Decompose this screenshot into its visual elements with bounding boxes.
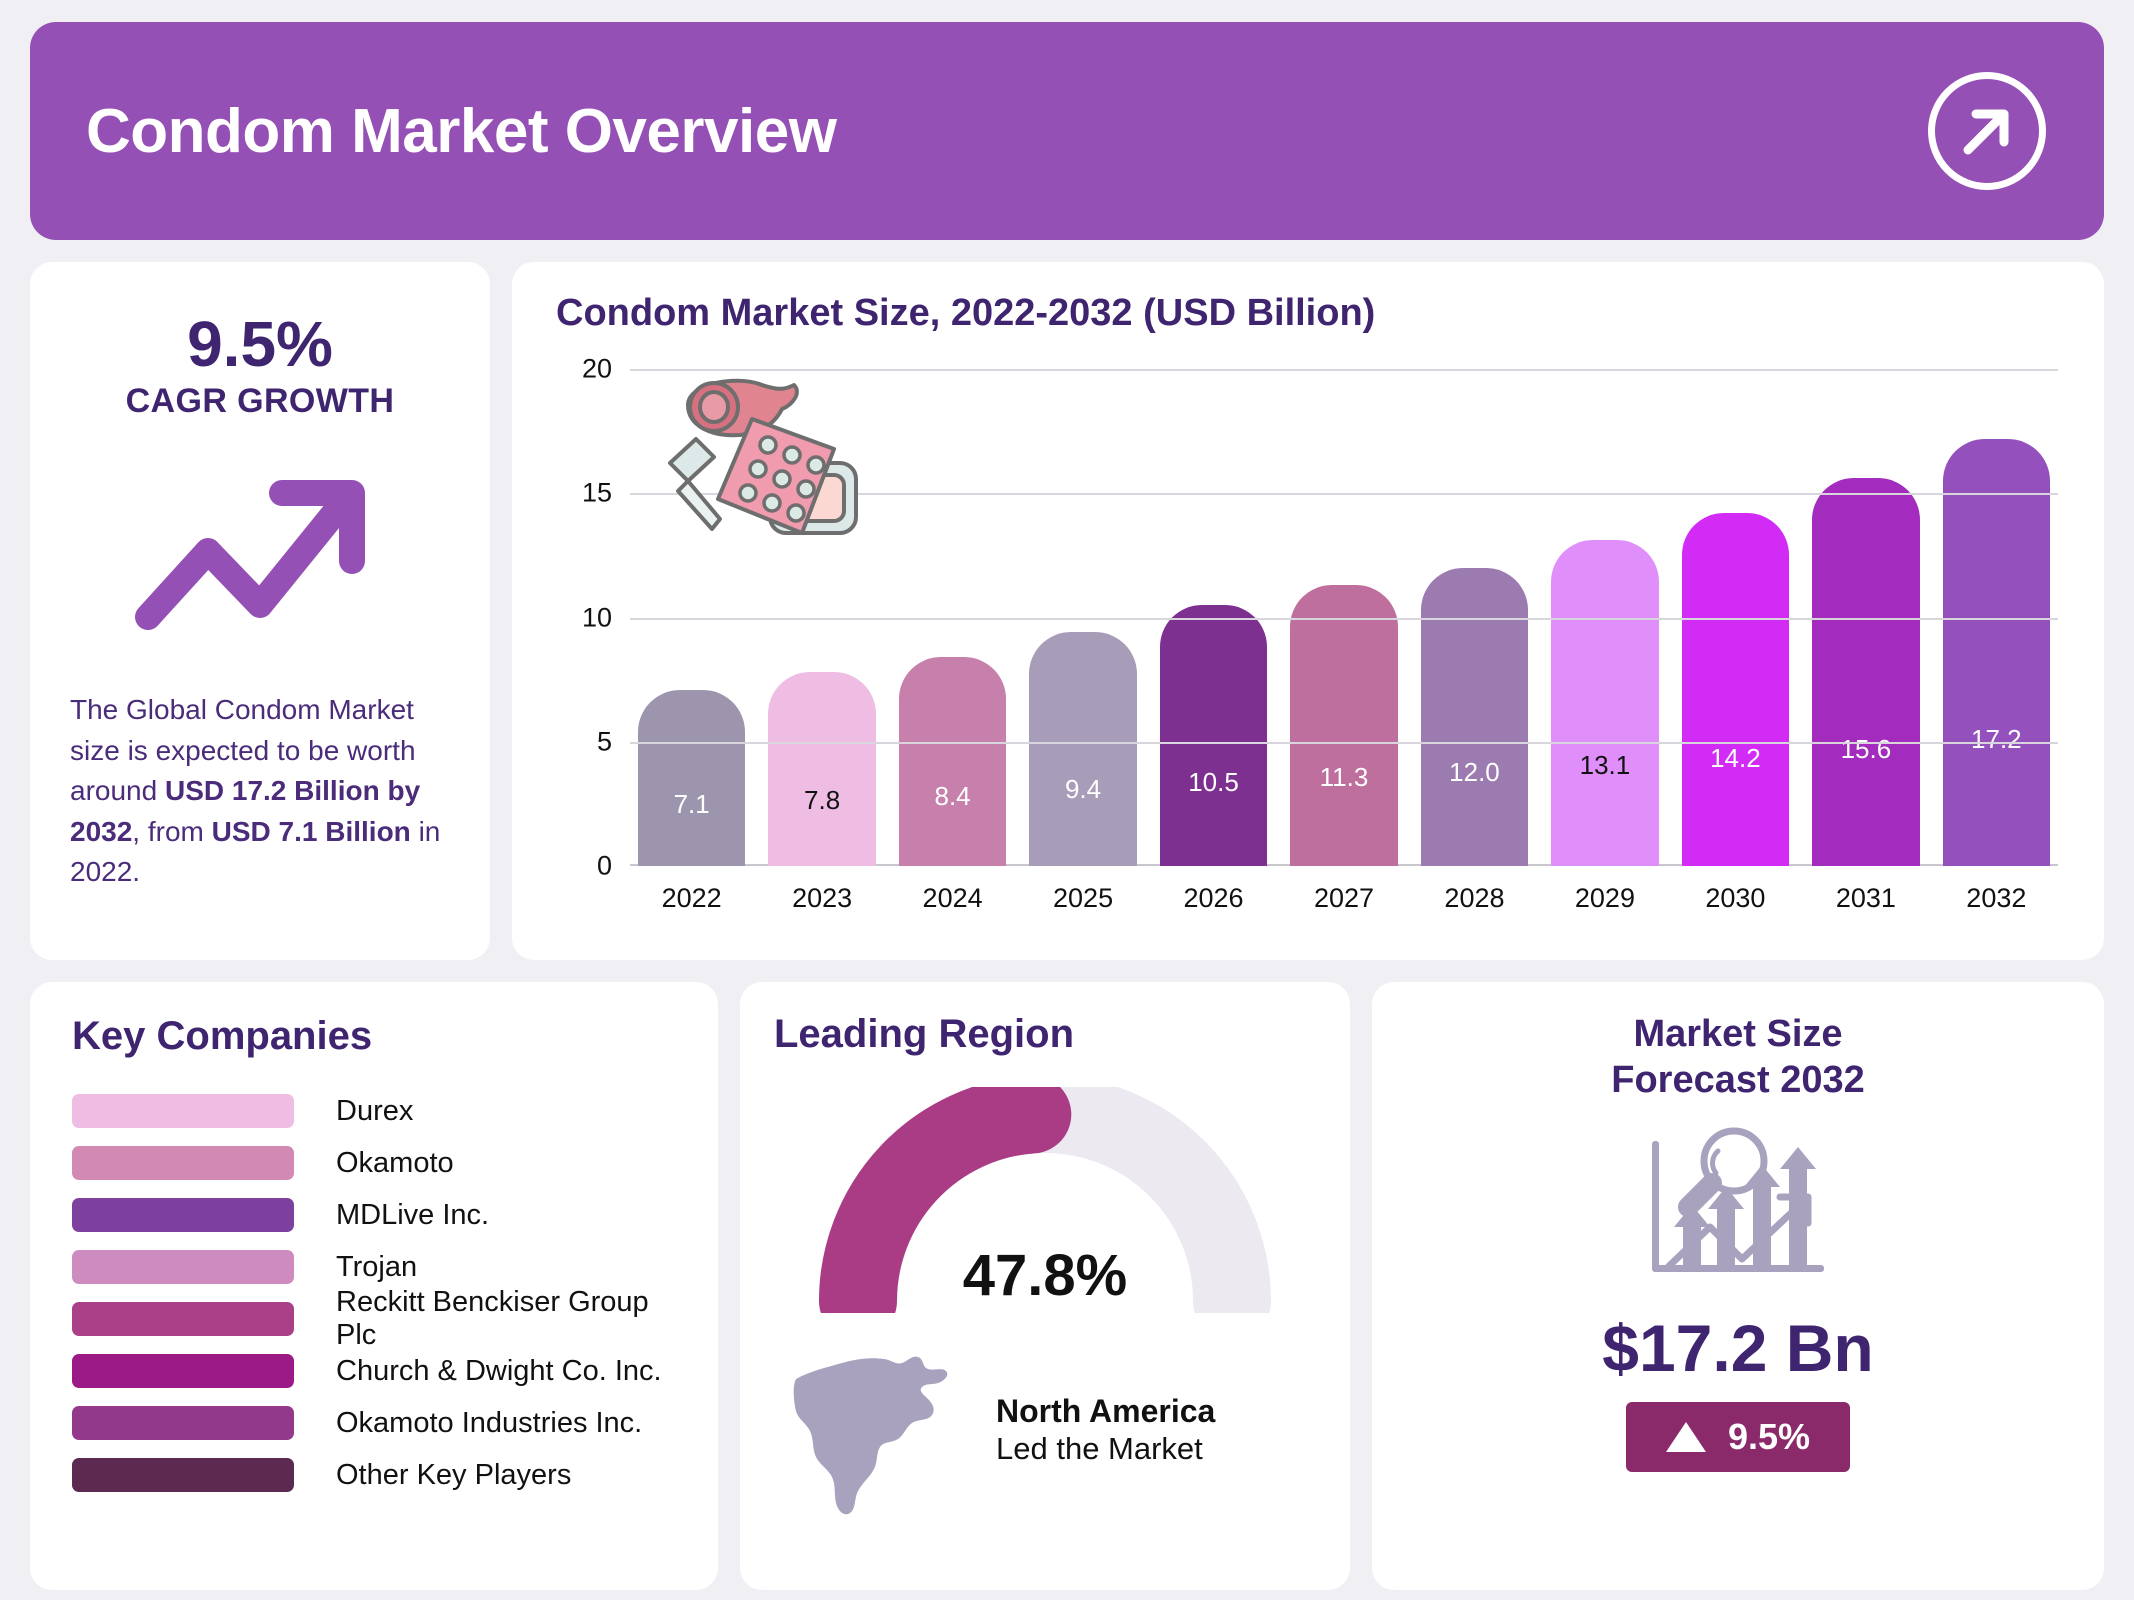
chart-x-tick: 2027 <box>1290 883 1397 914</box>
region-gauge: 47.8% <box>810 1087 1280 1313</box>
chart-bar-value: 17.2 <box>1943 724 2050 755</box>
region-percent: 47.8% <box>810 1242 1280 1309</box>
chart-bar-value: 9.4 <box>1029 774 1136 805</box>
chart-y-tick: 10 <box>582 602 612 633</box>
region-text-block: North America Led the Market <box>996 1393 1215 1467</box>
cagr-value: 9.5% <box>187 312 333 376</box>
chart-x-tick: 2031 <box>1812 883 1919 914</box>
chart-x-tick: 2026 <box>1160 883 1267 914</box>
desc-part-3: , from <box>132 816 211 847</box>
company-list: DurexOkamotoMDLive Inc.TrojanReckitt Ben… <box>72 1085 682 1501</box>
growth-arrow-icon <box>130 465 390 640</box>
company-name: Okamoto <box>336 1147 454 1180</box>
chart-x-tick: 2024 <box>899 883 1006 914</box>
region-name: North America <box>996 1393 1215 1431</box>
north-america-map-icon <box>784 1335 970 1526</box>
chart-bar[interactable]: 14.2 <box>1682 513 1789 866</box>
chart-bar[interactable]: 10.5 <box>1160 605 1267 866</box>
chart-bar-value: 7.1 <box>638 789 745 820</box>
chart-bar-value: 11.3 <box>1290 762 1397 793</box>
market-size-chart-card: Condom Market Size, 2022-2032 (USD Billi… <box>512 262 2104 960</box>
company-row[interactable]: Durex <box>72 1085 682 1137</box>
row-bottom: Key Companies DurexOkamotoMDLive Inc.Tro… <box>30 982 2104 1590</box>
company-name: Church & Dwight Co. Inc. <box>336 1355 662 1388</box>
company-color-swatch <box>72 1354 294 1388</box>
chart-y-tick: 5 <box>597 726 612 757</box>
chart-x-tick: 2032 <box>1943 883 2050 914</box>
chart-bar-value: 14.2 <box>1682 743 1789 774</box>
cagr-label: CAGR GROWTH <box>126 382 395 421</box>
region-summary: North America Led the Market <box>774 1335 1316 1526</box>
company-color-swatch <box>72 1146 294 1180</box>
chart-bar[interactable]: 11.3 <box>1290 585 1397 866</box>
company-row[interactable]: Reckitt Benckiser Group Plc <box>72 1293 682 1345</box>
company-name: Other Key Players <box>336 1459 571 1492</box>
chart-bar[interactable]: 7.8 <box>768 672 875 866</box>
chart-bar[interactable]: 9.4 <box>1029 632 1136 866</box>
chart-x-tick: 2023 <box>768 883 875 914</box>
chart-x-tick: 2029 <box>1551 883 1658 914</box>
company-row[interactable]: Other Key Players <box>72 1449 682 1501</box>
chart-x-tick: 2022 <box>638 883 745 914</box>
contraceptive-illustration-icon <box>652 371 867 551</box>
chart-bar-value: 15.6 <box>1812 734 1919 765</box>
company-name: Reckitt Benckiser Group Plc <box>336 1286 682 1352</box>
chart-x-labels: 2022202320242025202620272028202920302031… <box>630 883 2058 914</box>
infographic-page: Condom Market Overview 9.5% CAGR GROWTH <box>0 0 2134 1600</box>
key-companies-card: Key Companies DurexOkamotoMDLive Inc.Tro… <box>30 982 718 1590</box>
company-color-swatch <box>72 1458 294 1492</box>
company-name: Okamoto Industries Inc. <box>336 1407 642 1440</box>
chart-bar-value: 13.1 <box>1551 750 1658 781</box>
chart-bar[interactable]: 17.2 <box>1943 439 2050 866</box>
chart-gridline <box>630 742 2058 744</box>
chart-bar-value: 10.5 <box>1160 767 1267 798</box>
region-subtitle: Led the Market <box>996 1431 1215 1468</box>
company-row[interactable]: Okamoto <box>72 1137 682 1189</box>
company-row[interactable]: Church & Dwight Co. Inc. <box>72 1345 682 1397</box>
cagr-description: The Global Condom Market size is expecte… <box>64 690 456 893</box>
chart-title: Condom Market Size, 2022-2032 (USD Billi… <box>542 292 2068 335</box>
company-row[interactable]: MDLive Inc. <box>72 1189 682 1241</box>
chart-bar-value: 12.0 <box>1421 757 1528 788</box>
chart-bar[interactable]: 7.1 <box>638 690 745 866</box>
chart-bar[interactable]: 12.0 <box>1421 568 1528 866</box>
badge-value: 9.5% <box>1728 1416 1810 1458</box>
forecast-title-line2: Forecast 2032 <box>1611 1058 1865 1104</box>
chart-bar-value: 7.8 <box>768 785 875 816</box>
company-color-swatch <box>72 1406 294 1440</box>
company-color-swatch <box>72 1198 294 1232</box>
chart-y-tick: 0 <box>597 851 612 882</box>
company-color-swatch <box>72 1094 294 1128</box>
company-row[interactable]: Okamoto Industries Inc. <box>72 1397 682 1449</box>
chart-y-tick: 20 <box>582 354 612 385</box>
triangle-up-icon <box>1666 1422 1706 1452</box>
chart-bar[interactable]: 15.6 <box>1812 478 1919 866</box>
chart-y-tick: 15 <box>582 478 612 509</box>
company-name: MDLive Inc. <box>336 1199 489 1232</box>
forecast-title-line1: Market Size <box>1611 1012 1865 1058</box>
chart-bar[interactable]: 13.1 <box>1551 540 1658 866</box>
market-analysis-icon <box>1638 1127 1838 1290</box>
chart-x-tick: 2025 <box>1029 883 1136 914</box>
chart-gridline <box>630 618 2058 620</box>
arrow-up-right-circle-icon[interactable] <box>1928 72 2046 190</box>
page-header: Condom Market Overview <box>30 22 2104 240</box>
company-name: Trojan <box>336 1251 417 1284</box>
forecast-title: Market Size Forecast 2032 <box>1611 1012 1865 1103</box>
leading-region-card: Leading Region 47.8% North America Led t… <box>740 982 1350 1590</box>
leading-region-title: Leading Region <box>774 1012 1316 1057</box>
company-color-swatch <box>72 1302 294 1336</box>
row-top: 9.5% CAGR GROWTH The Global Condom Marke… <box>30 262 2104 960</box>
chart-x-tick: 2030 <box>1682 883 1789 914</box>
chart-plot-area: 7.17.88.49.410.511.312.013.114.215.617.2… <box>542 353 2068 932</box>
forecast-growth-badge: 9.5% <box>1626 1402 1850 1472</box>
forecast-value: $17.2 Bn <box>1602 1310 1873 1386</box>
chart-bar[interactable]: 8.4 <box>899 657 1006 866</box>
page-title: Condom Market Overview <box>86 96 836 167</box>
desc-part-4: USD 7.1 Billion <box>212 816 411 847</box>
key-companies-title: Key Companies <box>72 1014 682 1059</box>
forecast-card: Market Size Forecast 2032 <box>1372 982 2104 1590</box>
company-name: Durex <box>336 1095 413 1128</box>
cagr-card: 9.5% CAGR GROWTH The Global Condom Marke… <box>30 262 490 960</box>
chart-bar-value: 8.4 <box>899 781 1006 812</box>
chart-x-tick: 2028 <box>1421 883 1528 914</box>
company-color-swatch <box>72 1250 294 1284</box>
